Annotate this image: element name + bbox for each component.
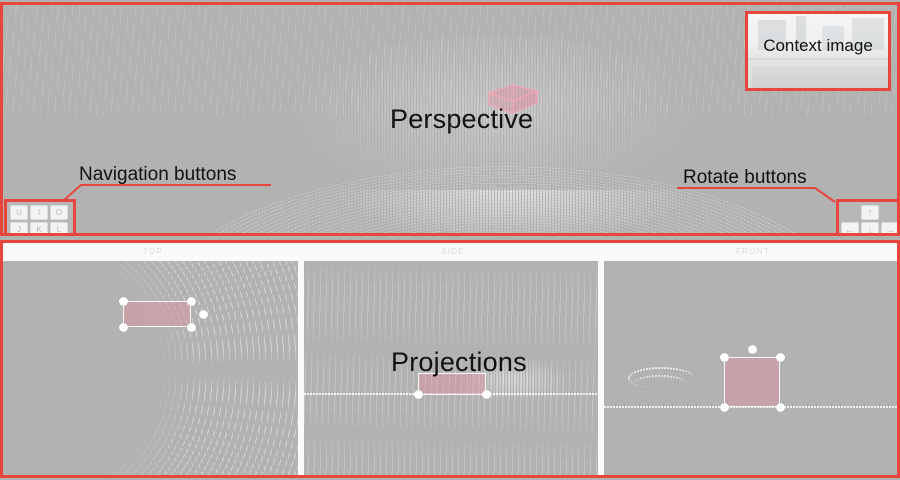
lidar-rings-top bbox=[3, 261, 298, 475]
road-surface-points bbox=[333, 190, 693, 233]
navigation-buttons-callout-label: Navigation buttons bbox=[79, 164, 236, 186]
handle-top-bl[interactable] bbox=[119, 323, 128, 332]
perspective-view-panel[interactable]: Perspective Context image Navigation but… bbox=[0, 2, 900, 236]
key-u-button[interactable]: U bbox=[10, 205, 28, 220]
rotate-right-button[interactable]: → bbox=[881, 222, 899, 236]
key-i-button[interactable]: I bbox=[30, 205, 48, 220]
projection-title-side: SIDE bbox=[303, 247, 603, 256]
projections-label: Projections bbox=[391, 347, 527, 378]
key-k-button[interactable]: K bbox=[30, 222, 48, 236]
handle-side-bl[interactable] bbox=[414, 390, 423, 399]
handle-front-br[interactable] bbox=[776, 403, 785, 412]
rotate-left-button[interactable]: ← bbox=[841, 222, 859, 236]
context-image-label: Context image bbox=[748, 36, 888, 56]
handle-top-heading[interactable] bbox=[199, 310, 208, 319]
handle-front-tr[interactable] bbox=[776, 353, 785, 362]
key-l-button[interactable]: L bbox=[50, 222, 68, 236]
handle-front-bl[interactable] bbox=[720, 403, 729, 412]
lidar-object-front-2 bbox=[634, 375, 686, 391]
perspective-label: Perspective bbox=[390, 104, 533, 135]
handle-side-br[interactable] bbox=[482, 390, 491, 399]
handle-top-tl[interactable] bbox=[119, 297, 128, 306]
annotation-tool-stage: Perspective Context image Navigation but… bbox=[0, 0, 900, 480]
rotate-up-button[interactable]: ↑ bbox=[861, 205, 879, 220]
context-image-panel[interactable]: Context image bbox=[745, 11, 891, 91]
projections-header: TOP SIDE FRONT bbox=[3, 243, 900, 261]
ctx-road bbox=[752, 66, 890, 88]
rotate-buttons-group[interactable]: ↑ ← ↓ → bbox=[836, 199, 900, 236]
projections-panel[interactable]: TOP SIDE FRONT bbox=[0, 240, 900, 478]
projection-view-front[interactable] bbox=[604, 261, 900, 475]
key-o-button[interactable]: O bbox=[50, 205, 68, 220]
handle-top-br[interactable] bbox=[187, 323, 196, 332]
bounding-box-front[interactable] bbox=[724, 357, 780, 407]
bounding-box-top[interactable] bbox=[123, 301, 191, 327]
rotate-down-button[interactable]: ↓ bbox=[861, 222, 879, 236]
projection-title-front: FRONT bbox=[603, 247, 900, 256]
ctx-horizon bbox=[748, 58, 891, 60]
key-j-button[interactable]: J bbox=[10, 222, 28, 236]
handle-front-top-center[interactable] bbox=[748, 345, 757, 354]
handle-top-tr[interactable] bbox=[187, 297, 196, 306]
projection-view-top[interactable] bbox=[3, 261, 298, 475]
handle-front-tl[interactable] bbox=[720, 353, 729, 362]
navigation-buttons-group[interactable]: U I O J K L bbox=[4, 199, 76, 236]
projection-title-top: TOP bbox=[3, 247, 303, 256]
rotate-buttons-callout-label: Rotate buttons bbox=[683, 167, 807, 189]
